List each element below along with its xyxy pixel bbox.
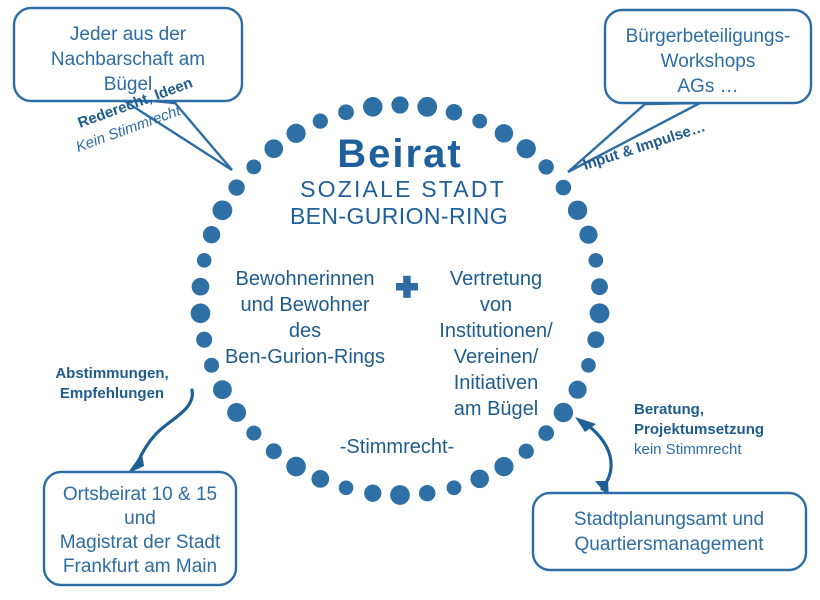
ring-dot <box>311 470 329 488</box>
diagram-canvas: Jeder aus der Nachbarschaft am Bügel Red… <box>0 0 820 600</box>
center-right-column: Vertretung von Institutionen/ Vereinen/ … <box>439 268 553 420</box>
center-left-line-4: Ben-Gurion-Rings <box>225 346 385 368</box>
ring-dot <box>419 485 435 501</box>
bubble-bottom-left[interactable]: Ortsbeirat 10 & 15 und Magistrat der Sta… <box>44 472 236 585</box>
center-left-line-3: des <box>289 320 321 342</box>
ring-dot <box>568 201 587 220</box>
ring-dot <box>338 104 354 120</box>
bubble-bottom-right-line-2: Quartiersmanagement <box>574 534 764 555</box>
arrow-to-ortsbeirat <box>127 390 192 474</box>
center-footer-note: -Stimmrecht- <box>340 436 454 458</box>
center-right-line-6: am Bügel <box>454 398 539 420</box>
ring-dot <box>538 159 553 174</box>
ring-dot <box>313 114 328 129</box>
ring-dot <box>591 278 608 295</box>
ring-dot <box>447 480 462 495</box>
ring-dot <box>191 303 211 323</box>
ring-dot <box>197 253 212 268</box>
center-right-line-1: Vertretung <box>450 268 542 290</box>
annotation-bottom-right-line-1: Beratung, <box>634 401 704 418</box>
ring-dot <box>519 444 534 459</box>
bubble-bottom-right[interactable]: Stadtplanungsamt und Quartiersmanagement <box>533 493 806 570</box>
ring-dot <box>390 485 410 505</box>
bubble-bottom-left-line-1: Ortsbeirat 10 & 15 <box>63 484 217 505</box>
ring-dot <box>227 403 246 422</box>
ring-dot <box>363 97 383 117</box>
bubble-top-left[interactable]: Jeder aus der Nachbarschaft am Bügel <box>14 8 242 170</box>
center-title: Beirat <box>337 132 462 176</box>
ring-dot <box>246 159 261 174</box>
center-subtitle-1: SOZIALE STADT <box>300 176 506 202</box>
bubble-top-right[interactable]: Bürgerbeteiligungs- Workshops AGs … <box>568 10 811 172</box>
ring-dot <box>264 139 283 158</box>
bubble-bottom-left-line-3: Magistrat der Stadt <box>60 532 221 553</box>
ring-dot <box>228 179 244 195</box>
ring-dot <box>339 480 354 495</box>
ring-dot <box>517 139 536 158</box>
annotation-bottom-left-line-2: Empfehlungen <box>60 385 164 402</box>
ring-dot <box>196 332 212 348</box>
ring-dot <box>204 358 219 373</box>
bubble-top-right-line-1: Bürgerbeteiligungs- <box>626 26 791 47</box>
ring-dot <box>213 380 232 399</box>
ring-dot <box>417 97 437 117</box>
annotation-bottom-right-line-3: kein Stimmrecht <box>634 441 742 458</box>
ring-dot <box>246 426 261 441</box>
ring-dot <box>569 381 587 399</box>
plus-icon <box>396 276 418 298</box>
ring-dot <box>213 200 233 220</box>
beirat-structure-diagram: Jeder aus der Nachbarschaft am Bügel Red… <box>0 0 820 600</box>
bubble-bottom-left-line-2: und <box>124 508 156 529</box>
center-right-line-4: Vereinen/ <box>454 346 539 368</box>
ring-dot <box>556 180 572 196</box>
center-subtitle-2: BEN-GURION-RING <box>290 203 508 229</box>
center-left-column: Bewohnerinnen und Bewohner des Ben-Gurio… <box>225 268 385 368</box>
bubble-top-right-line-3: AGs … <box>677 76 738 97</box>
ring-dot <box>364 485 381 502</box>
bubble-top-left-line-2: Nachbarschaft am <box>51 49 205 70</box>
annotation-bottom-right: Beratung, Projektumsetzung kein Stimmrec… <box>634 401 764 458</box>
annotation-bottom-right-line-2: Projektumsetzung <box>634 421 764 438</box>
center-right-line-2: von <box>480 294 512 316</box>
bubble-top-right-line-2: Workshops <box>661 51 756 72</box>
ring-dot <box>587 331 604 348</box>
center-right-line-5: Initiativen <box>454 372 539 394</box>
ring-dot <box>494 457 513 476</box>
ring-dot <box>588 253 603 268</box>
center-title-block: Beirat SOZIALE STADT BEN-GURION-RING <box>290 132 508 229</box>
ring-dot <box>203 226 220 243</box>
center-left-line-2: und Bewohner <box>241 294 370 316</box>
bubble-bottom-right-line-1: Stadtplanungsamt und <box>574 509 764 530</box>
bubble-bottom-right-box <box>533 493 806 570</box>
ring-dot <box>554 403 573 422</box>
ring-dot <box>579 226 597 244</box>
ring-dot <box>590 303 610 323</box>
ring-dot <box>286 457 306 477</box>
ring-dot <box>266 443 282 459</box>
annotation-bottom-left-line-1: Abstimmungen, <box>55 365 168 382</box>
arrow-beratung-double <box>575 417 611 498</box>
ring-dot <box>470 470 489 489</box>
ring-dot <box>581 358 596 373</box>
bubble-bottom-left-line-4: Frankfurt am Main <box>63 556 217 577</box>
ring-dot <box>472 114 487 129</box>
ring-dot <box>538 425 554 441</box>
ring-dot <box>192 278 210 296</box>
ring-dot <box>495 124 513 142</box>
ring-dot <box>287 124 306 143</box>
center-left-line-1: Bewohnerinnen <box>236 268 375 290</box>
ring-dot <box>446 104 463 121</box>
center-right-line-3: Institutionen/ <box>439 320 553 342</box>
ring-dot <box>391 96 408 113</box>
bubble-top-left-line-1: Jeder aus der <box>70 24 187 45</box>
annotation-bottom-left: Abstimmungen, Empfehlungen <box>55 365 168 402</box>
